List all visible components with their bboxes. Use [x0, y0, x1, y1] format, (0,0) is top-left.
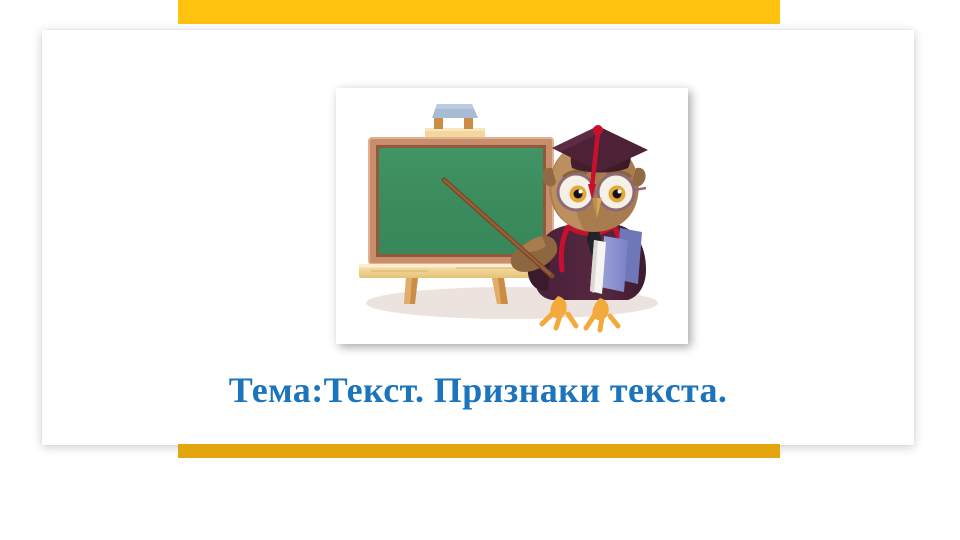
owl-teacher-svg [336, 88, 688, 344]
slide-title: Тема:Текст. Признаки текста. [42, 368, 914, 412]
top-accent-bar [178, 0, 780, 24]
owl-teacher-illustration [336, 88, 688, 344]
content-card: Тема:Текст. Признаки текста. [42, 30, 914, 445]
bottom-accent-bar [178, 444, 780, 458]
presentation-slide: Тема:Текст. Признаки текста. [0, 0, 960, 540]
